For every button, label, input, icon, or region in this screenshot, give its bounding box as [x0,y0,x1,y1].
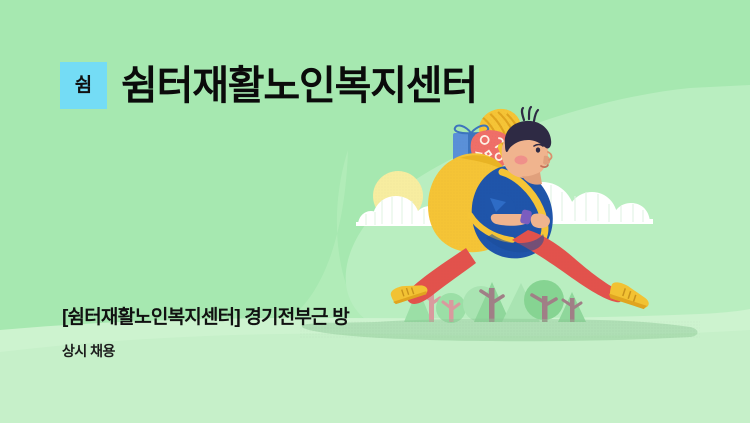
job-summary: [쉼터재활노인복지센터] 경기전부근 방 상시 채용 [62,305,422,360]
job-posting-card: 쉼 쉼터재활노인복지센터 [쉼터재활노인복지센터] 경기전부근 방 상시 채용 [0,0,750,423]
employment-type-label: 상시 채용 [62,342,422,360]
organization-header: 쉼 쉼터재활노인복지센터 [60,62,477,109]
job-posting-title: [쉼터재활노인복지센터] 경기전부근 방 [62,305,422,331]
organization-badge: 쉼 [60,62,107,109]
organization-name: 쉼터재활노인복지센터 [121,66,477,106]
